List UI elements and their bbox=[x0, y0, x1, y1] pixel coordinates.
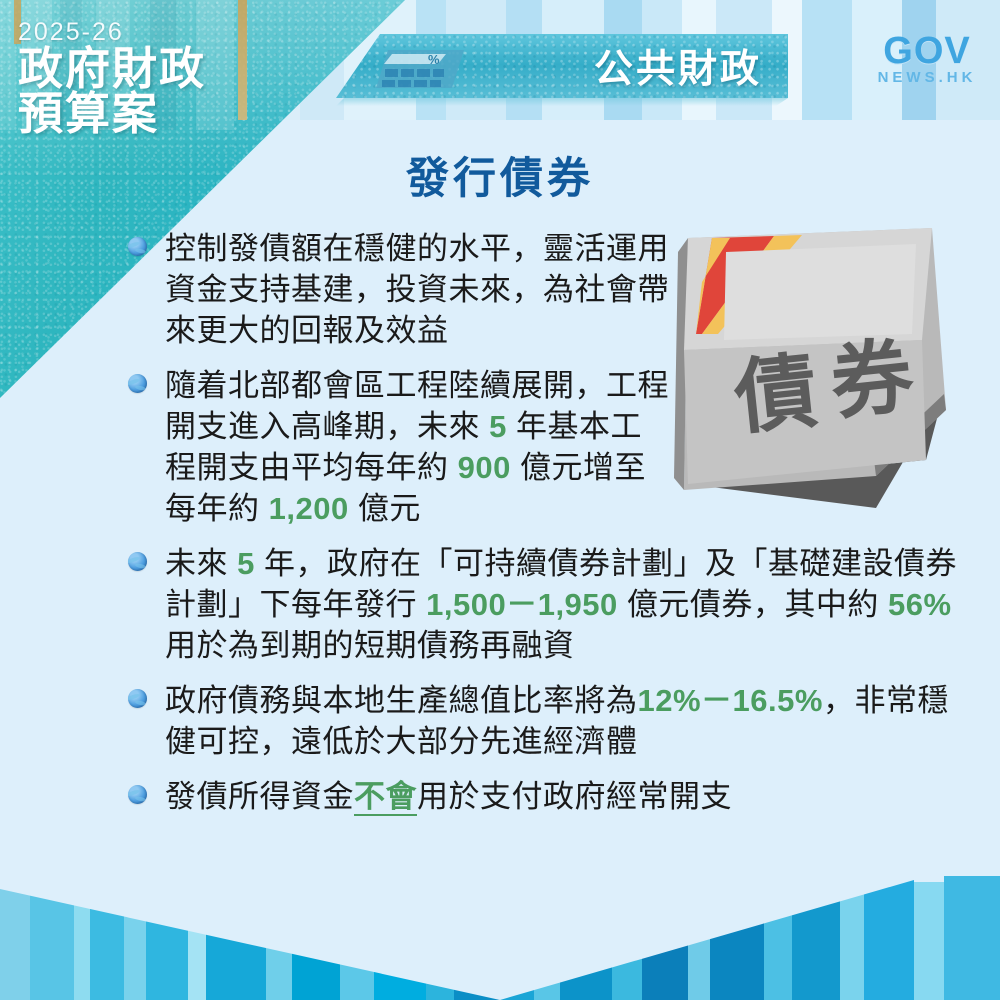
list-item-text: 控制發債額在穩健的水平，靈活運用資金支持基建，投資未來，為社會帶來更大的回報及效… bbox=[165, 228, 673, 351]
bullet-no-recurrent: 發債所得資金不會用於支付政府經常開支 bbox=[128, 776, 968, 817]
globe-bullet-icon bbox=[128, 374, 147, 393]
bullet-debt-to-gdp: 政府債務與本地生產總值比率將為12%－16.5%，非常穩健可控，遠低於大部分先進… bbox=[128, 680, 968, 762]
text-run: 用於支付政府經常開支 bbox=[417, 779, 732, 814]
banner-shadow-strip bbox=[336, 98, 788, 106]
highlight-run: 1,200 bbox=[269, 491, 349, 526]
section-banner: % 公共財政 bbox=[336, 34, 788, 98]
page-title: 發行債券 bbox=[0, 144, 1000, 206]
list-item-text: 發債所得資金不會用於支付政府經常開支 bbox=[165, 776, 732, 817]
logo-secondary-text: NEWS.HK bbox=[868, 69, 986, 86]
text-run: 政府債務與本地生產總值比率將為 bbox=[165, 683, 638, 718]
text-run: 發債所得資金 bbox=[165, 779, 354, 814]
highlight-run: 56% bbox=[888, 587, 952, 622]
bullet-debt-level: 控制發債額在穩健的水平，靈活運用資金支持基建，投資未來，為社會帶來更大的回報及效… bbox=[128, 228, 968, 351]
bottom-stripe-band bbox=[0, 855, 1000, 1000]
gov-news-logo[interactable]: GOV NEWS.HK bbox=[868, 34, 986, 86]
budget-branding: 2025-26 政府財政 預算案 bbox=[18, 18, 348, 136]
text-run: 億元債券，其中約 bbox=[618, 587, 888, 622]
highlight-run: 5 bbox=[237, 546, 255, 581]
highlight-run: 5 bbox=[489, 409, 507, 444]
text-run: 控制發債額在穩健的水平，靈活運用資金支持基建，投資未來，為社會帶來更大的回報及效… bbox=[165, 231, 669, 348]
text-run: 用於為到期的短期債務再融資 bbox=[165, 628, 575, 663]
list-item-text: 隨着北部都會區工程陸續展開，工程開支進入高峰期，未來 5 年基本工程開支由平均每… bbox=[165, 365, 673, 529]
highlight-run: 不會 bbox=[354, 779, 417, 816]
budget-title-line-1: 政府財政 bbox=[18, 46, 348, 91]
globe-bullet-icon bbox=[128, 552, 147, 571]
budget-title-line-2: 預算案 bbox=[18, 91, 348, 136]
bullet-northern-metropolis: 隨着北部都會區工程陸續展開，工程開支進入高峰期，未來 5 年基本工程開支由平均每… bbox=[128, 365, 968, 529]
logo-primary-text: GOV bbox=[868, 34, 986, 68]
text-run: 億元 bbox=[349, 491, 421, 526]
section-banner-label: 公共財政 bbox=[336, 34, 788, 98]
budget-title: 政府財政 預算案 bbox=[18, 46, 348, 136]
infographic-canvas: 2025-26 政府財政 預算案 % 公共財政 GOV NEWS.HK 發行債券 bbox=[0, 0, 1000, 1000]
list-item-text: 未來 5 年，政府在「可持續債券計劃」及「基礎建設債券計劃」下每年發行 1,50… bbox=[165, 543, 968, 666]
bullet-bond-programmes: 未來 5 年，政府在「可持續債券計劃」及「基礎建設債券計劃」下每年發行 1,50… bbox=[128, 543, 968, 666]
bullet-list: 控制發債額在穩健的水平，靈活運用資金支持基建，投資未來，為社會帶來更大的回報及效… bbox=[128, 228, 968, 817]
text-run: 未來 bbox=[165, 546, 237, 581]
list-item-text: 政府債務與本地生產總值比率將為12%－16.5%，非常穩健可控，遠低於大部分先進… bbox=[165, 680, 968, 762]
highlight-run: 12%－16.5% bbox=[638, 683, 823, 718]
highlight-run: 900 bbox=[458, 450, 511, 485]
globe-bullet-icon bbox=[128, 689, 147, 708]
globe-bullet-icon bbox=[128, 785, 147, 804]
globe-bullet-icon bbox=[128, 237, 147, 256]
highlight-run: 1,500－1,950 bbox=[426, 587, 618, 622]
